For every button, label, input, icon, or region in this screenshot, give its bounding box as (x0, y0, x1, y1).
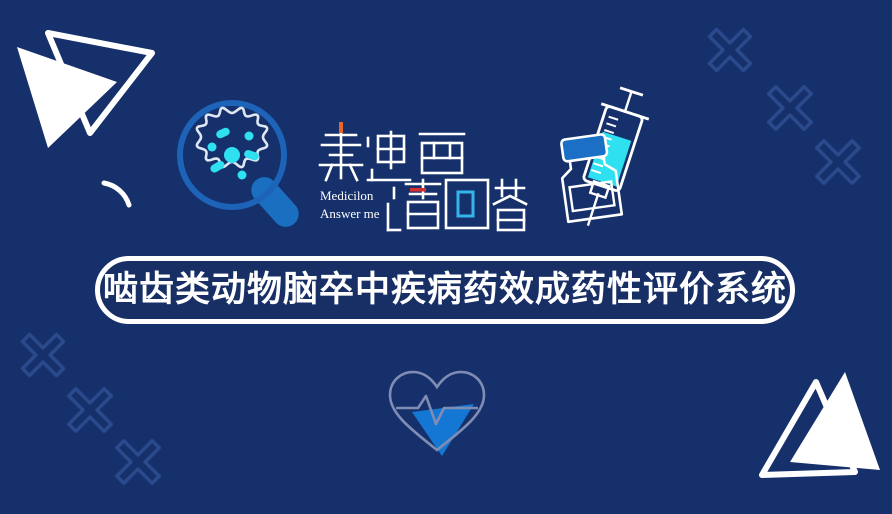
logo-english-line2: Answer me (320, 206, 380, 221)
syringe-vial-icon (545, 78, 670, 230)
syringe-plunger-rod (625, 92, 631, 111)
logo-char-mei (320, 128, 362, 180)
banner-root: Medicilon Answer me (0, 0, 892, 514)
cross-icon (696, 16, 764, 84)
virus-dot (208, 143, 217, 152)
virus-core-dot (224, 147, 240, 163)
logo-english-line1: Medicilon (320, 188, 374, 203)
triangle-filled-top-left (17, 47, 117, 148)
cross-icon (755, 73, 826, 144)
cross-icon (803, 127, 874, 198)
virus-dot (238, 171, 247, 180)
virus-dot (245, 132, 254, 141)
title-pill: 啮齿类动物脑卒中疾病药效成药性评价系统 (95, 256, 795, 324)
logo-char-xi (420, 134, 464, 173)
logo-char-da (494, 180, 526, 230)
logo-accent-cyan-box (458, 192, 473, 216)
cross-icon (55, 375, 126, 446)
page-title: 啮齿类动物脑卒中疾病药效成药性评价系统 (103, 273, 787, 308)
vial-cap (561, 134, 608, 162)
logo-accent-red (410, 188, 426, 192)
magnifier-virus-icon (170, 95, 315, 230)
virus-dot (209, 160, 226, 174)
arc-decoration (104, 183, 129, 205)
cross-mark-group-top-right (696, 16, 873, 197)
cross-icon (9, 321, 77, 389)
logo-accent-orange (339, 122, 343, 133)
virus-dot (215, 126, 231, 139)
virus-icon (197, 108, 267, 180)
heart-arrow-icon (382, 364, 492, 456)
brand-logo: Medicilon Answer me (318, 118, 528, 236)
cross-icon (103, 427, 174, 498)
triangle-filled-bottom-right (790, 372, 880, 470)
logo-char-di (368, 132, 410, 180)
cross-mark-group-bottom-left (9, 321, 173, 497)
logo-char-hui (446, 180, 488, 228)
logo-char-qing (388, 180, 440, 230)
